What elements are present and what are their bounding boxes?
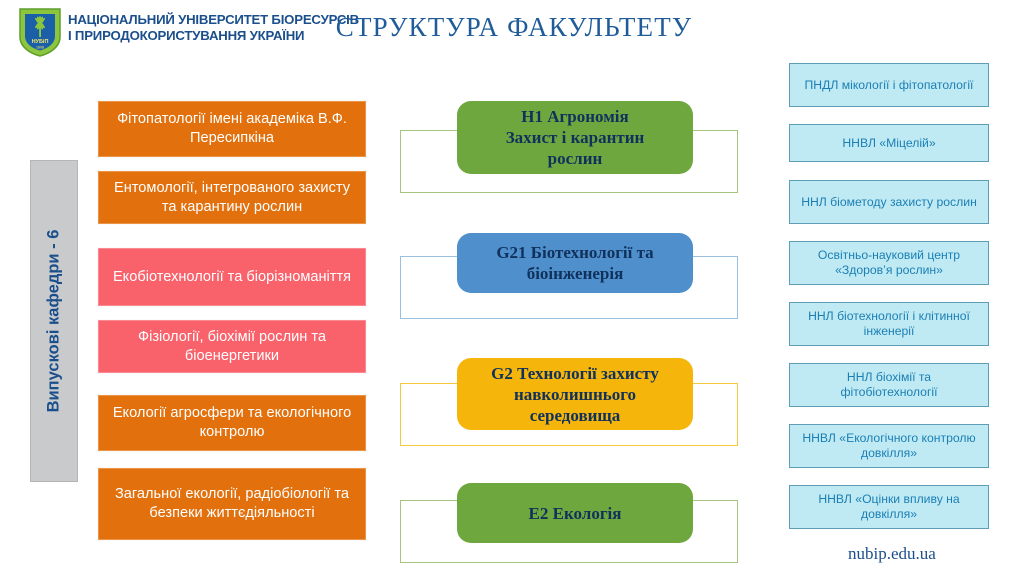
lab-box-4[interactable]: Освітньо-науковий центр «Здоров’я рослин…: [789, 241, 989, 285]
lab-label: ННЛ біохімії та фітобіотехнології: [797, 370, 981, 400]
lab-box-2[interactable]: ННВЛ «Міцелій»: [789, 124, 989, 162]
program-box-agronomy[interactable]: H1 Агрономія Захист і карантин рослин: [457, 101, 693, 174]
department-label: Ентомології, інтегрованого захисту та ка…: [109, 179, 355, 217]
department-label: Екології агросфери та екологічного контр…: [109, 404, 355, 442]
program-line: навколишнього: [514, 384, 636, 405]
program-line: біоінженерія: [527, 263, 624, 284]
department-box-1[interactable]: Фітопатології імені академіка В.Ф. Перес…: [98, 101, 366, 157]
program-box-environment-protection[interactable]: G2 Технології захисту навколишнього сере…: [457, 358, 693, 430]
graduating-departments-label: Випускові кафедри - 6: [45, 230, 64, 413]
department-box-4[interactable]: Фізіології, біохімії рослин та біоенерге…: [98, 320, 366, 373]
lab-label: Освітньо-науковий центр «Здоров’я рослин…: [797, 248, 981, 278]
lab-box-6[interactable]: ННЛ біохімії та фітобіотехнології: [789, 363, 989, 407]
department-box-3[interactable]: Екобіотехнології та біорізноманіття: [98, 248, 366, 306]
lab-box-5[interactable]: ННЛ біотехнології і клітинної інженерії: [789, 302, 989, 346]
program-line: Захист і карантин: [506, 127, 645, 148]
lab-label: ПНДЛ мікології і фітопатології: [805, 78, 974, 93]
lab-box-3[interactable]: ННЛ біометоду захисту рослин: [789, 180, 989, 224]
department-label: Екобіотехнології та біорізноманіття: [113, 268, 351, 287]
program-line: H1 Агрономія: [521, 106, 628, 127]
department-label: Фітопатології імені академіка В.Ф. Перес…: [109, 110, 355, 148]
program-line: рослин: [548, 148, 603, 169]
department-label: Фізіології, біохімії рослин та біоенерге…: [109, 328, 355, 366]
graduating-departments-bar: Випускові кафедри - 6: [30, 160, 78, 482]
site-url[interactable]: nubip.edu.ua: [848, 544, 936, 564]
department-box-5[interactable]: Екології агросфери та екологічного контр…: [98, 395, 366, 451]
page-title: СТРУКТУРА ФАКУЛЬТЕТУ: [14, 12, 1014, 43]
department-box-2[interactable]: Ентомології, інтегрованого захисту та ка…: [98, 171, 366, 224]
program-line: середовища: [530, 405, 621, 426]
lab-box-8[interactable]: ННВЛ «Оцінки впливу на довкілля»: [789, 485, 989, 529]
program-line: E2 Екологія: [529, 503, 622, 524]
department-box-6[interactable]: Загальної екології, радіобіології та без…: [98, 468, 366, 540]
lab-label: ННЛ біометоду захисту рослин: [801, 195, 977, 210]
lab-label: ННВЛ «Оцінки впливу на довкілля»: [797, 492, 981, 522]
program-line: G2 Технології захисту: [491, 363, 659, 384]
lab-label: ННВЛ «Міцелій»: [842, 136, 935, 151]
lab-box-7[interactable]: ННВЛ «Екологічного контролю довкілля»: [789, 424, 989, 468]
department-label: Загальної екології, радіобіології та без…: [109, 485, 355, 523]
lab-box-1[interactable]: ПНДЛ мікології і фітопатології: [789, 63, 989, 107]
lab-label: ННЛ біотехнології і клітинної інженерії: [797, 309, 981, 339]
program-line: G21 Біотехнології та: [496, 242, 653, 263]
lab-label: ННВЛ «Екологічного контролю довкілля»: [797, 431, 981, 461]
slide-canvas: НУБіП 1898 НАЦІОНАЛЬНИЙ УНІВЕРСИТЕТ БІОР…: [0, 0, 1024, 574]
program-box-biotechnology[interactable]: G21 Біотехнології та біоінженерія: [457, 233, 693, 293]
program-box-ecology[interactable]: E2 Екологія: [457, 483, 693, 543]
svg-text:1898: 1898: [36, 46, 44, 50]
